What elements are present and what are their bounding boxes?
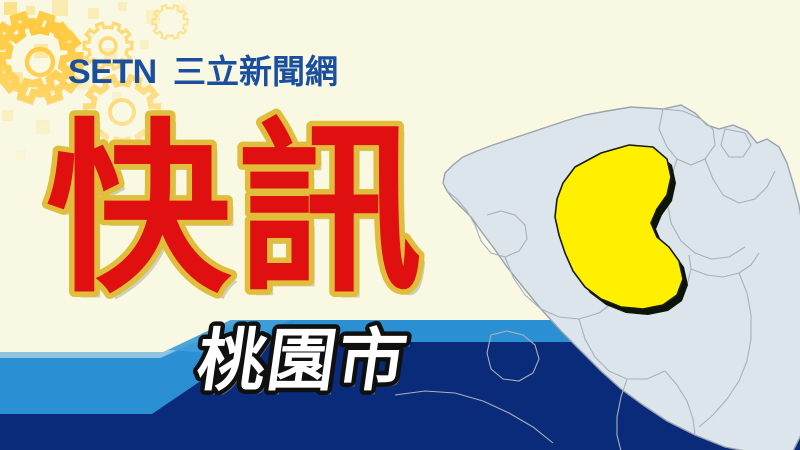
subtitle-text: 桃園市 [193,323,414,399]
headline-text: 快訊 [46,108,428,314]
headline-breaking-news: 快訊 快訊 快訊 [38,104,468,324]
gear-hub-large [27,49,53,75]
logo-chinese-text: 三立新聞網 [173,53,338,90]
gear-icon-group [0,15,71,89]
breaking-news-graphic: 快訊 快訊 快訊 桃園市 桃園市 桃園市 SETN 三立新聞網 [0,0,800,450]
subtitle-city-name: 桃園市 桃園市 桃園市 [190,318,440,406]
gear-icon-tiny [153,5,188,39]
setn-logo[interactable]: SETN 三立新聞網 [68,52,340,92]
logo-latin-text: SETN [68,53,157,91]
